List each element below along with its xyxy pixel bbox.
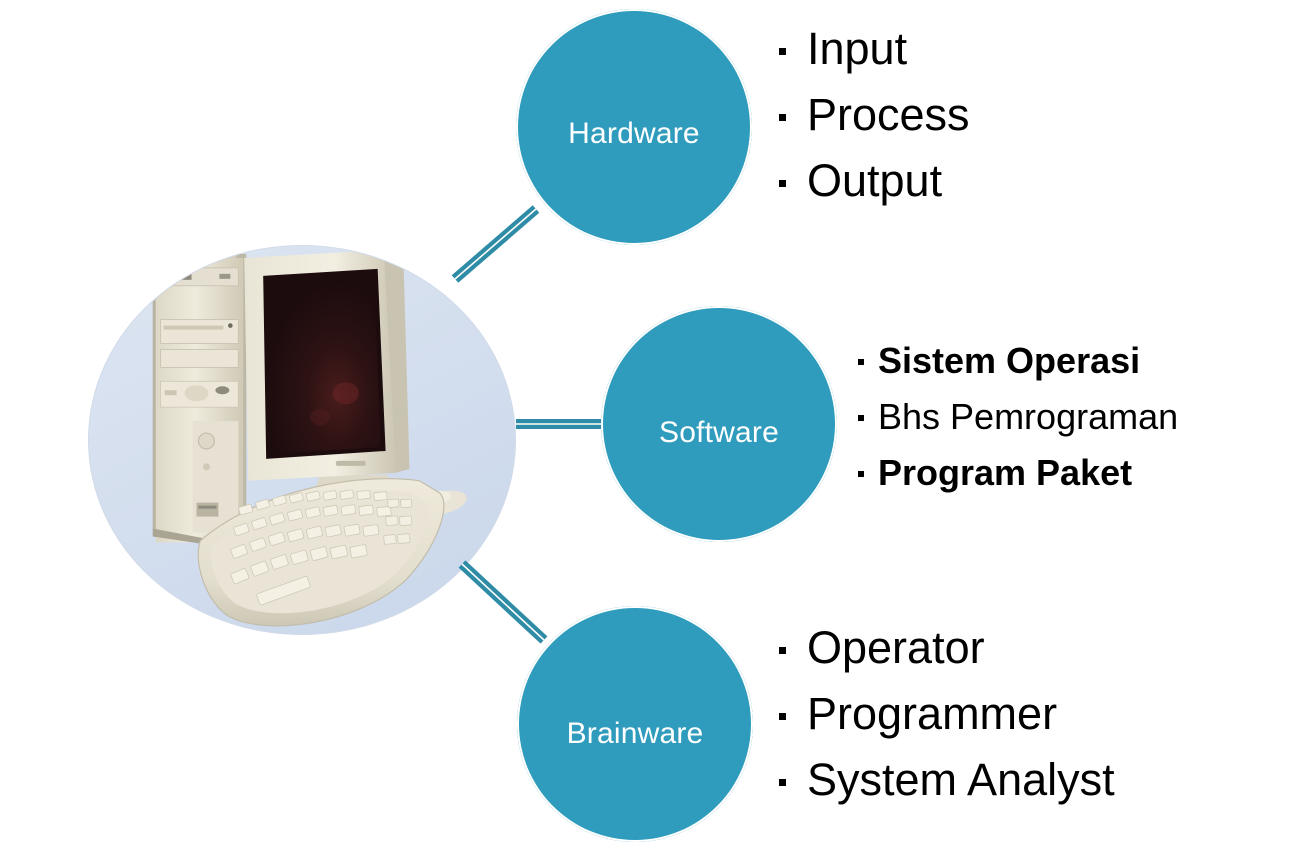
bullet-icon: [779, 779, 786, 786]
computer-tower: [153, 254, 247, 550]
list-item: Input: [779, 26, 970, 92]
list-item-label: Programmer: [807, 691, 1057, 736]
computer-image-circle: [88, 245, 516, 635]
list-item: Programmer: [779, 691, 1115, 757]
node-circle-brainware[interactable]: Brainware: [517, 606, 753, 842]
node-label-hardware: Hardware: [568, 119, 700, 149]
list-item-label: Input: [807, 26, 907, 71]
bullet-icon: [779, 647, 786, 654]
diagram-canvas: Hardware Software Brainware Input Proces…: [0, 0, 1302, 848]
list-item-label: Program Paket: [878, 455, 1132, 491]
list-item: Process: [779, 92, 970, 158]
bullet-list-brainware: Operator Programmer System Analyst: [779, 625, 1115, 823]
bullet-icon: [779, 114, 786, 121]
desktop-computer-illustration: [89, 246, 515, 634]
bullet-icon: [858, 415, 864, 421]
list-item: System Analyst: [779, 757, 1115, 823]
bullet-icon: [779, 713, 786, 720]
list-item: Bhs Pemrograman: [858, 399, 1178, 455]
connector-brainware: [462, 564, 544, 640]
list-item-label: Operator: [807, 625, 985, 670]
list-item-label: System Analyst: [807, 757, 1115, 802]
bullet-icon: [858, 359, 864, 365]
node-label-brainware: Brainware: [567, 719, 704, 749]
bullet-icon: [779, 48, 786, 55]
bullet-list-hardware: Input Process Output: [779, 26, 970, 224]
list-item-label: Sistem Operasi: [878, 343, 1140, 379]
bullet-icon: [779, 180, 786, 187]
list-item: Sistem Operasi: [858, 343, 1178, 399]
list-item-label: Bhs Pemrograman: [878, 399, 1178, 435]
connector-hardware: [455, 209, 536, 279]
list-item-label: Process: [807, 92, 970, 137]
list-item-label: Output: [807, 158, 942, 203]
list-item: Program Paket: [858, 455, 1178, 511]
bullet-list-software: Sistem Operasi Bhs Pemrograman Program P…: [858, 343, 1178, 511]
node-label-software: Software: [659, 418, 779, 448]
bullet-icon: [858, 471, 864, 477]
node-circle-hardware[interactable]: Hardware: [516, 9, 752, 245]
list-item: Output: [779, 158, 970, 224]
list-item: Operator: [779, 625, 1115, 691]
node-circle-software[interactable]: Software: [601, 306, 837, 542]
